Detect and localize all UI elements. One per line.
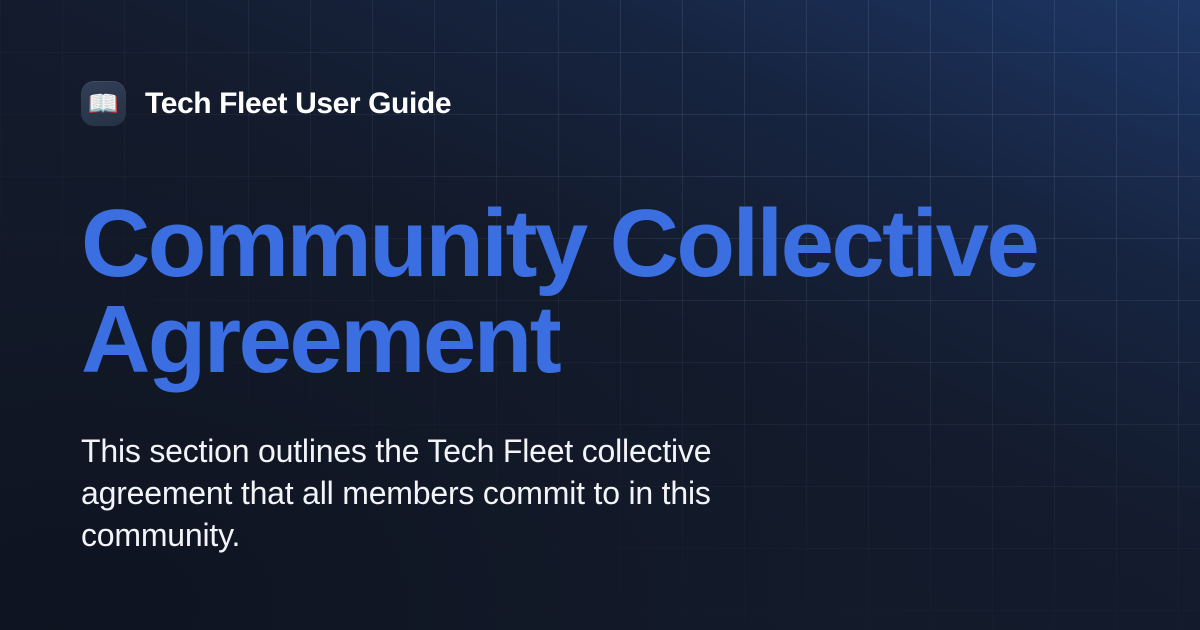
page-title: Community Collective Agreement xyxy=(81,196,1091,388)
brand-title: Tech Fleet User Guide xyxy=(145,87,451,121)
page-description: This section outlines the Tech Fleet col… xyxy=(81,430,871,556)
brand-header: 📖 Tech Fleet User Guide xyxy=(81,81,451,126)
open-book-icon: 📖 xyxy=(81,81,126,126)
content-container: 📖 Tech Fleet User Guide Community Collec… xyxy=(81,0,1141,630)
og-card: 📖 Tech Fleet User Guide Community Collec… xyxy=(0,0,1200,630)
